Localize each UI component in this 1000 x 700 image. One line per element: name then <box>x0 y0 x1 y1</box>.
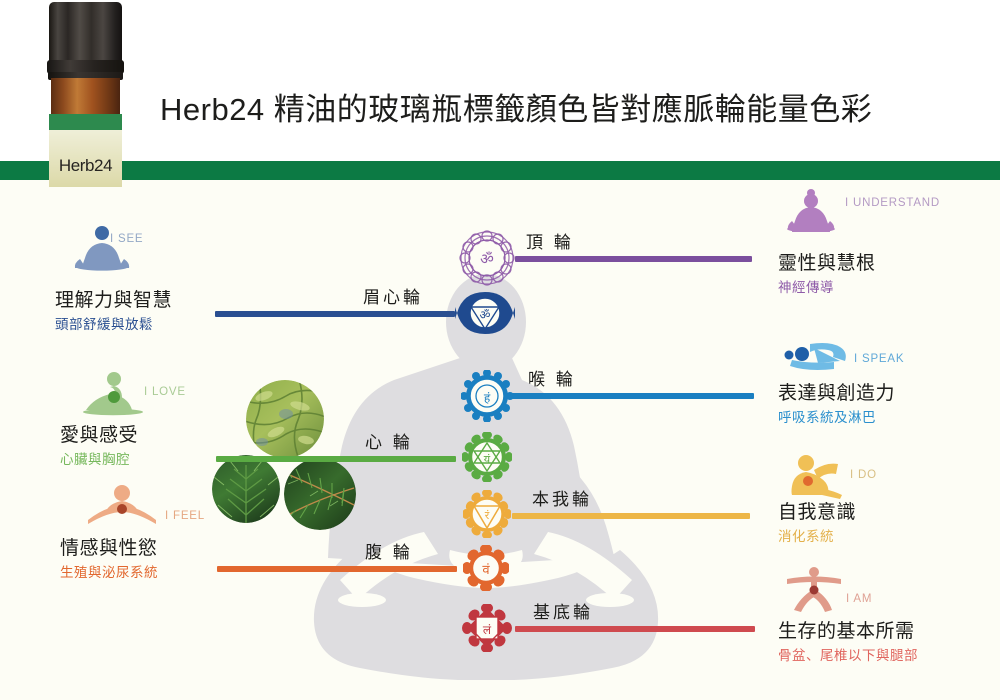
bottle-brand-text: Herb24 <box>49 156 122 176</box>
plant-photo-right <box>284 458 356 530</box>
sub-third-eye: 頭部舒緩與放鬆 <box>55 313 153 333</box>
svg-text:हं: हं <box>484 391 491 405</box>
title-third-eye: 理解力與智慧 <box>55 285 172 312</box>
svg-text:ॐ: ॐ <box>480 250 494 268</box>
mantra-throat: I SPEAK <box>854 353 904 365</box>
connector-line-solar-plexus <box>512 513 750 519</box>
chakra-symbol-sacral: वं <box>463 545 509 596</box>
mantra-third-eye: I SEE <box>110 233 143 245</box>
center-label-crown: 頂 輪 <box>526 228 574 253</box>
chakra-symbol-heart: यं <box>462 432 512 487</box>
title-root: 生存的基本所需 <box>778 616 915 643</box>
connector-line-root <box>515 626 755 632</box>
header-band <box>0 0 1000 160</box>
svg-text:लं: लं <box>483 623 492 637</box>
pose-icon-root <box>784 566 846 617</box>
connector-line-third-eye <box>215 311 455 317</box>
chakra-symbol-throat: हं <box>461 370 513 427</box>
chakra-symbol-root: लं <box>462 604 512 657</box>
connector-line-heart <box>216 456 456 462</box>
svg-text:रं: रं <box>485 509 490 522</box>
chakra-symbol-solar-plexus: रं <box>463 490 511 543</box>
page-title: Herb24 精油的玻璃瓶標籤顏色皆對應脈輪能量色彩 <box>160 84 990 129</box>
pose-icon-throat <box>780 340 848 379</box>
center-label-solar-plexus: 本我輪 <box>532 485 592 510</box>
title-solar-plexus: 自我意識 <box>778 497 856 524</box>
connector-line-crown <box>515 256 752 262</box>
title-crown: 靈性與慧根 <box>778 248 876 275</box>
chakra-symbol-crown: ॐ <box>458 229 516 292</box>
svg-text:ॐ: ॐ <box>480 308 491 322</box>
sub-sacral: 生殖與泌尿系統 <box>60 561 158 581</box>
plant-photo-top <box>246 380 324 458</box>
mantra-crown: I UNDERSTAND <box>845 197 940 209</box>
sub-root: 骨盆、尾椎以下與腿部 <box>778 644 918 664</box>
center-label-root: 基底輪 <box>533 598 593 623</box>
connector-line-sacral <box>217 566 457 572</box>
bottle-label-green-stripe <box>49 114 122 130</box>
sub-crown: 神經傳導 <box>778 276 834 296</box>
center-label-throat: 喉 輪 <box>528 365 576 390</box>
sub-heart: 心臟與胸腔 <box>60 448 130 468</box>
pose-icon-heart <box>78 372 148 421</box>
title-throat: 表達與創造力 <box>778 378 895 405</box>
chakra-symbol-third-eye: ॐ <box>455 288 515 343</box>
title-heart: 愛與感受 <box>60 420 138 447</box>
center-label-heart: 心 輪 <box>365 428 413 453</box>
sub-throat: 呼吸系統及淋巴 <box>778 406 876 426</box>
center-label-sacral: 腹 輪 <box>365 538 413 563</box>
bottle-label: Herb24 <box>49 130 122 187</box>
mantra-sacral: I FEEL <box>165 510 205 522</box>
center-label-third-eye: 眉心輪 <box>363 283 423 308</box>
plant-photo-left <box>212 455 280 523</box>
pose-icon-crown <box>784 188 838 237</box>
infographic-page: Herb24 精油的玻璃瓶標籤顏色皆對應脈輪能量色彩 Herb24 <box>0 0 1000 700</box>
herb24-bottle-image: Herb24 <box>37 2 134 187</box>
svg-text:वं: वं <box>482 563 490 578</box>
connector-line-throat <box>508 393 754 399</box>
header-green-rule <box>0 161 1000 180</box>
svg-text:यं: यं <box>484 453 491 466</box>
mantra-root: I AM <box>846 593 872 605</box>
bottle-cap <box>49 2 122 64</box>
sub-solar-plexus: 消化系統 <box>778 525 834 545</box>
mantra-heart: I LOVE <box>144 386 186 398</box>
mantra-solar-plexus: I DO <box>850 469 877 481</box>
pose-icon-sacral <box>82 485 162 530</box>
title-sacral: 情感與性慾 <box>60 533 158 560</box>
